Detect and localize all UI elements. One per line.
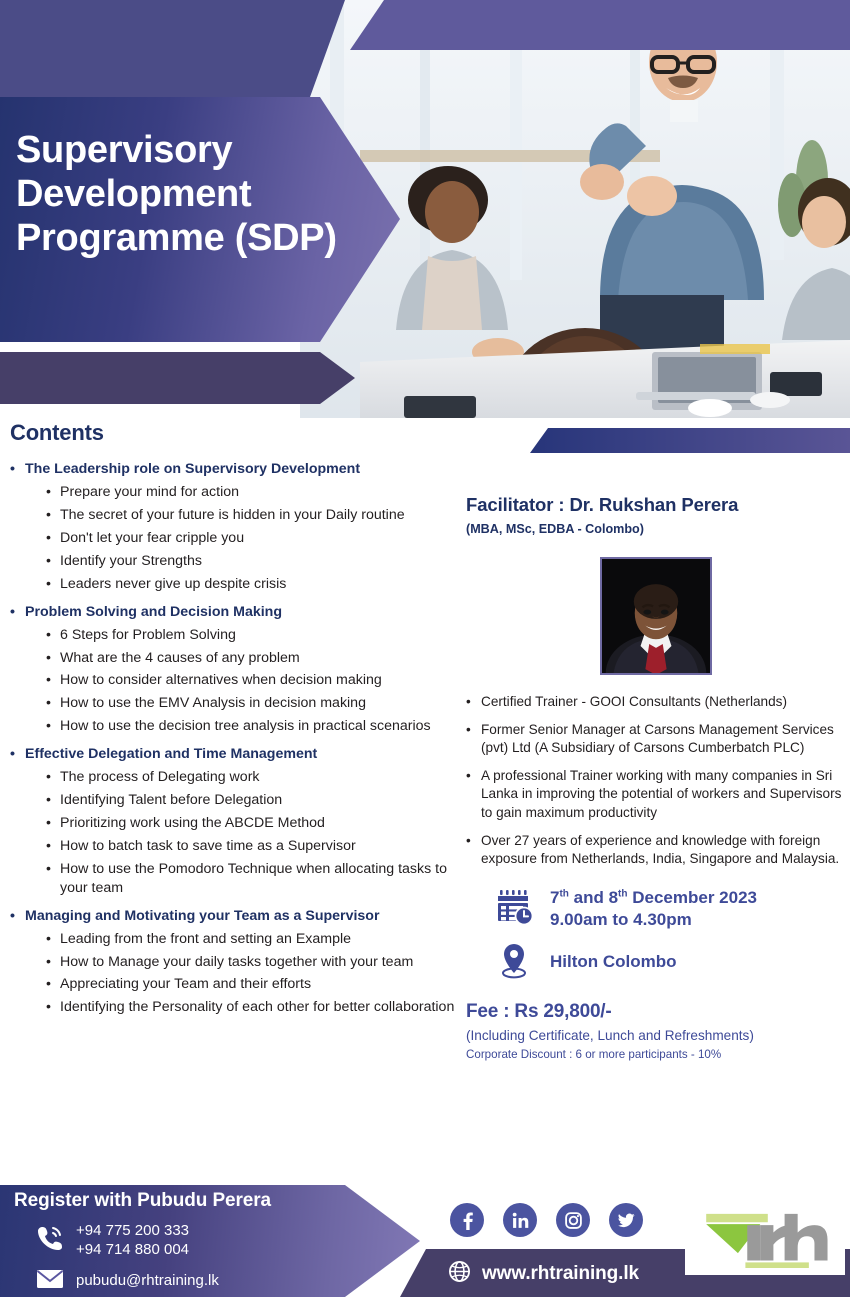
topic-title-row: • Managing and Motivating your Team as a… (10, 907, 465, 926)
subtopic-text: 6 Steps for Problem Solving (60, 626, 236, 645)
bullet-icon: • (466, 721, 481, 740)
bullet-icon: • (46, 717, 60, 736)
subtopics-list: •Prepare your mind for action •The secre… (46, 483, 465, 593)
bullet-icon: • (46, 575, 60, 594)
bullet-icon: • (46, 837, 60, 856)
accent-strip (530, 428, 850, 453)
subtopic-text: Identify your Strengths (60, 552, 202, 571)
subtopic-text: How to batch task to save time as a Supe… (60, 837, 356, 856)
topic-item: • Managing and Motivating your Team as a… (10, 907, 465, 1018)
logo-block (0, 0, 345, 97)
bullet-icon: • (10, 460, 25, 479)
register-title: Register with Pubudu Perera (14, 1190, 271, 1212)
phone-numbers: +94 775 200 333 +94 714 880 004 (76, 1222, 189, 1260)
subtopic-text: Identifying the Personality of each othe… (60, 998, 454, 1017)
subtopic-text: Leaders never give up despite crisis (60, 575, 286, 594)
topic-title-row: • The Leadership role on Supervisory Dev… (10, 460, 465, 479)
list-item: •Over 27 years of experience and knowled… (466, 832, 846, 869)
subtopic-text: Prioritizing work using the ABCDE Method (60, 814, 325, 833)
bullet-icon: • (10, 907, 25, 926)
list-item: •What are the 4 causes of any problem (46, 649, 465, 668)
bullet-icon: • (10, 745, 25, 764)
fee-amount: Fee : Rs 29,800/- (466, 1001, 846, 1023)
bullet-icon: • (46, 694, 60, 713)
bullet-icon: • (46, 860, 60, 879)
bullet-icon: • (46, 671, 60, 690)
topic-title-row: • Effective Delegation and Time Manageme… (10, 745, 465, 764)
topic-item: • Effective Delegation and Time Manageme… (10, 745, 465, 897)
bullet-icon: • (466, 693, 481, 712)
topic-title: Managing and Motivating your Team as a S… (25, 907, 380, 926)
list-item: •Identifying Talent before Delegation (46, 791, 465, 810)
corporate-discount-note: Corporate Discount : 6 or more participa… (466, 1048, 846, 1061)
social-links (450, 1203, 643, 1237)
credentials-list: •Certified Trainer - GOOI Consultants (N… (466, 693, 846, 869)
topics-list: • The Leadership role on Supervisory Dev… (10, 460, 465, 1017)
event-datetime: 7th and 8th December 2023 9.00am to 4.30… (550, 887, 757, 932)
fee-inclusions: (Including Certificate, Lunch and Refres… (466, 1028, 846, 1043)
bullet-icon: • (46, 552, 60, 571)
list-item: •Leading from the front and setting an E… (46, 930, 465, 949)
bullet-icon: • (46, 814, 60, 833)
list-item: •How to use the EMV Analysis in decision… (46, 694, 465, 713)
top-banner (350, 0, 850, 50)
subtopic-text: Don't let your fear cripple you (60, 529, 244, 548)
subtopics-list: •6 Steps for Problem Solving •What are t… (46, 626, 465, 736)
subtopic-text: Leading from the front and setting an Ex… (60, 930, 351, 949)
subtopic-text: How to use the decision tree analysis in… (60, 717, 431, 736)
list-item: •How to consider alternatives when decis… (46, 671, 465, 690)
website-row[interactable]: www.rhtraining.lk (448, 1260, 639, 1288)
bullet-icon: • (46, 529, 60, 548)
subtopic-text: How to consider alternatives when decisi… (60, 671, 382, 690)
phone-icon (36, 1224, 64, 1257)
facilitator-name: Facilitator : Dr. Rukshan Perera (466, 494, 846, 516)
map-pin-icon (496, 940, 536, 985)
date-month-year: December 2023 (628, 888, 757, 907)
facilitator-section: Facilitator : Dr. Rukshan Perera (MBA, M… (466, 494, 846, 1061)
list-item: •Identify your Strengths (46, 552, 465, 571)
flyer-page: 8th Repeat Programme by Popular Demand R… (0, 0, 850, 1297)
topic-title: The Leadership role on Supervisory Devel… (25, 460, 360, 479)
subtopic-text: How to Manage your daily tasks together … (60, 953, 413, 972)
workshop-ribbon (0, 352, 355, 404)
event-info: 7th and 8th December 2023 9.00am to 4.30… (466, 887, 846, 985)
bullet-icon: • (46, 953, 60, 972)
linkedin-icon[interactable] (503, 1203, 537, 1237)
bullet-icon: • (46, 998, 60, 1017)
title-line-1: Supervisory (16, 128, 337, 172)
credential-text: Certified Trainer - GOOI Consultants (Ne… (481, 693, 787, 712)
bullet-icon: • (46, 975, 60, 994)
subtopic-text: Appreciating your Team and their efforts (60, 975, 311, 994)
bullet-icon: • (46, 791, 60, 810)
subtopic-text: Identifying Talent before Delegation (60, 791, 282, 810)
title-line-2: Development (16, 172, 337, 216)
topic-title: Problem Solving and Decision Making (25, 603, 282, 622)
website-url: www.rhtraining.lk (482, 1263, 639, 1285)
list-item: •Leaders never give up despite crisis (46, 575, 465, 594)
email-row[interactable]: pubudu@rhtraining.lk (36, 1268, 219, 1295)
contents-heading: Contents (10, 420, 465, 446)
facebook-icon[interactable] (450, 1203, 484, 1237)
envelope-icon (36, 1268, 64, 1295)
list-item: •The secret of your future is hidden in … (46, 506, 465, 525)
list-item: •How to batch task to save time as a Sup… (46, 837, 465, 856)
event-date: 7th and 8th December 2023 (550, 887, 757, 909)
topic-title: Effective Delegation and Time Management (25, 745, 317, 764)
subtopics-list: •Leading from the front and setting an E… (46, 930, 465, 1018)
bullet-icon: • (46, 768, 60, 787)
list-item: •How to use the Pomodoro Technique when … (46, 860, 465, 898)
bullet-icon: • (46, 626, 60, 645)
list-item: •Don't let your fear cripple you (46, 529, 465, 548)
date-conjunction: and 8 (569, 888, 618, 907)
credential-text: Former Senior Manager at Carsons Managem… (481, 721, 846, 758)
bullet-icon: • (10, 603, 25, 622)
bullet-icon: • (466, 767, 481, 786)
facilitator-portrait (600, 557, 712, 675)
contents-section: Contents • The Leadership role on Superv… (10, 420, 465, 1026)
list-item: •Certified Trainer - GOOI Consultants (N… (466, 693, 846, 712)
topic-title-row: • Problem Solving and Decision Making (10, 603, 465, 622)
phone-number-1: +94 775 200 333 (76, 1222, 189, 1241)
list-item: •6 Steps for Problem Solving (46, 626, 465, 645)
twitter-icon[interactable] (609, 1203, 643, 1237)
phone-number-2: +94 714 880 004 (76, 1241, 189, 1260)
list-item: •Prioritizing work using the ABCDE Metho… (46, 814, 465, 833)
fee-section: Fee : Rs 29,800/- (Including Certificate… (466, 1001, 846, 1061)
subtopic-text: What are the 4 causes of any problem (60, 649, 300, 668)
credential-text: A professional Trainer working with many… (481, 767, 846, 823)
subtopics-list: •The process of Delegating work •Identif… (46, 768, 465, 897)
bullet-icon: • (46, 506, 60, 525)
list-item: •Prepare your mind for action (46, 483, 465, 502)
event-venue-row: Hilton Colombo (496, 940, 846, 985)
subtopic-text: The process of Delegating work (60, 768, 260, 787)
list-item: •Appreciating your Team and their effort… (46, 975, 465, 994)
date-ordinal-2: th (618, 888, 627, 899)
footer-rh-logo-icon (685, 1205, 845, 1275)
event-time: 9.00am to 4.30pm (550, 909, 757, 931)
instagram-icon[interactable] (556, 1203, 590, 1237)
bullet-icon: • (46, 483, 60, 502)
title-line-3: Programme (SDP) (16, 216, 337, 260)
bullet-icon: • (466, 832, 481, 851)
list-item: •Identifying the Personality of each oth… (46, 998, 465, 1017)
email-address: pubudu@rhtraining.lk (76, 1272, 219, 1291)
subtopic-text: The secret of your future is hidden in y… (60, 506, 405, 525)
subtopic-text: How to use the Pomodoro Technique when a… (60, 860, 465, 898)
bullet-icon: • (46, 930, 60, 949)
globe-icon (448, 1260, 471, 1288)
credential-text: Over 27 years of experience and knowledg… (481, 832, 846, 869)
topic-item: • Problem Solving and Decision Making •6… (10, 603, 465, 737)
list-item: •Former Senior Manager at Carsons Manage… (466, 721, 846, 758)
bullet-icon: • (46, 649, 60, 668)
contact-details: +94 775 200 333 +94 714 880 004 pubudu@r… (36, 1222, 219, 1297)
phone-row[interactable]: +94 775 200 333 +94 714 880 004 (36, 1222, 219, 1260)
venue-name: Hilton Colombo (550, 952, 677, 972)
list-item: •A professional Trainer working with man… (466, 767, 846, 823)
topic-item: • The Leadership role on Supervisory Dev… (10, 460, 465, 594)
list-item: •How to use the decision tree analysis i… (46, 717, 465, 736)
date-ordinal-1: th (559, 888, 568, 899)
subtopic-text: Prepare your mind for action (60, 483, 239, 502)
calendar-clock-icon (496, 887, 536, 932)
list-item: •How to Manage your daily tasks together… (46, 953, 465, 972)
page-title: Supervisory Development Programme (SDP) (16, 128, 337, 260)
facilitator-qualifications: (MBA, MSc, EDBA - Colombo) (466, 522, 846, 536)
subtopic-text: How to use the EMV Analysis in decision … (60, 694, 366, 713)
list-item: •The process of Delegating work (46, 768, 465, 787)
event-date-row: 7th and 8th December 2023 9.00am to 4.30… (496, 887, 846, 932)
